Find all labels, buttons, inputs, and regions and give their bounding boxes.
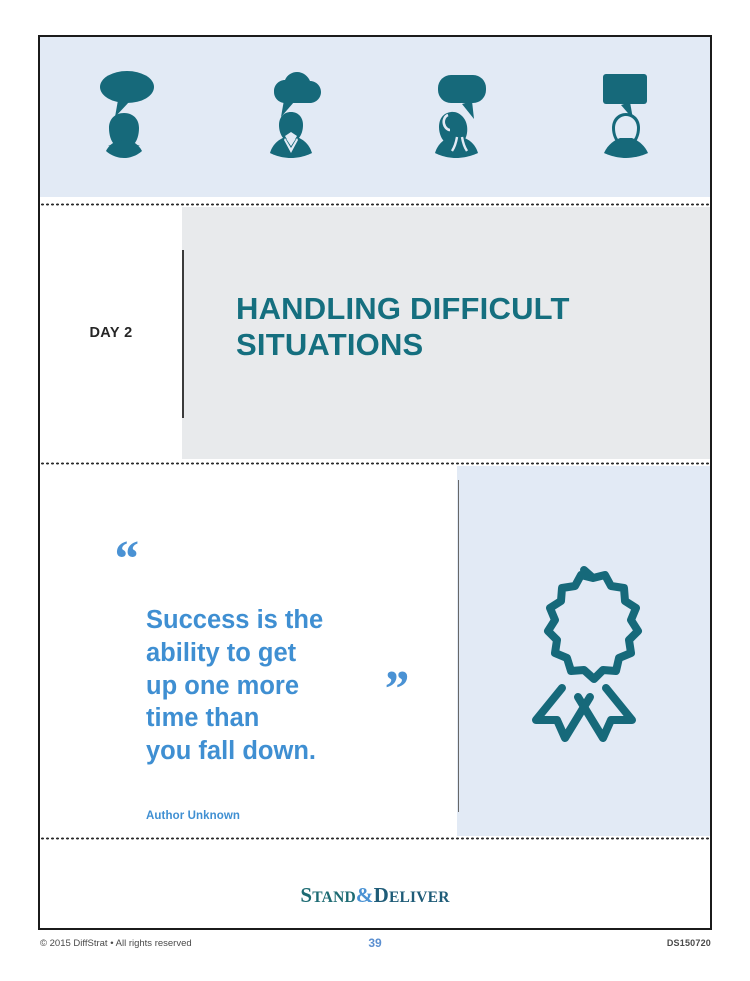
page-meta: © 2015 DiffStrat • All rights reserved 3… bbox=[38, 936, 712, 958]
quote-section: “ Success is the ability to get up one m… bbox=[40, 466, 710, 836]
person-speech-bubble-oval-icon bbox=[81, 65, 167, 169]
quote-text: Success is the ability to get up one mor… bbox=[146, 606, 323, 766]
close-quote-mark: ” bbox=[382, 664, 408, 716]
title-vertical-rule bbox=[182, 250, 184, 418]
title-section: DAY 2 HANDLING DIFFICULT SITUATIONS bbox=[40, 207, 710, 459]
day-label: DAY 2 bbox=[40, 207, 182, 459]
quote-block: “ Success is the ability to get up one m… bbox=[112, 538, 432, 822]
quote-text-wrapper: “ Success is the ability to get up one m… bbox=[112, 538, 323, 801]
brand-stand-rest: TAND bbox=[312, 889, 356, 906]
footer-zone: STAND&DELIVER bbox=[40, 841, 710, 928]
open-quote-mark: “ bbox=[112, 534, 138, 586]
brand-stand-cap: S bbox=[300, 883, 312, 907]
brand-logo: STAND&DELIVER bbox=[300, 883, 449, 908]
page-number: 39 bbox=[38, 936, 712, 950]
person-speech-bubble-square-icon bbox=[583, 65, 669, 169]
quote-author: Author Unknown bbox=[146, 810, 432, 822]
brand-ampersand: & bbox=[356, 883, 374, 907]
slide-page: DAY 2 HANDLING DIFFICULT SITUATIONS “ Su… bbox=[38, 35, 712, 930]
divider-top bbox=[40, 203, 710, 206]
document-code: DS150720 bbox=[667, 938, 711, 948]
badge-vertical-rule bbox=[458, 480, 459, 812]
brand-deliver-rest: ELIVER bbox=[389, 889, 450, 906]
persona-icon-band bbox=[40, 37, 710, 197]
award-rosette-ribbon-icon bbox=[504, 556, 664, 746]
divider-middle bbox=[40, 462, 710, 465]
person-speech-bubble-rounded-icon bbox=[416, 65, 502, 169]
divider-bottom bbox=[40, 837, 710, 840]
page-title: HANDLING DIFFICULT SITUATIONS bbox=[236, 291, 688, 364]
brand-deliver-cap: D bbox=[374, 883, 389, 907]
person-thought-cloud-icon bbox=[248, 65, 334, 169]
badge-panel bbox=[457, 466, 710, 836]
